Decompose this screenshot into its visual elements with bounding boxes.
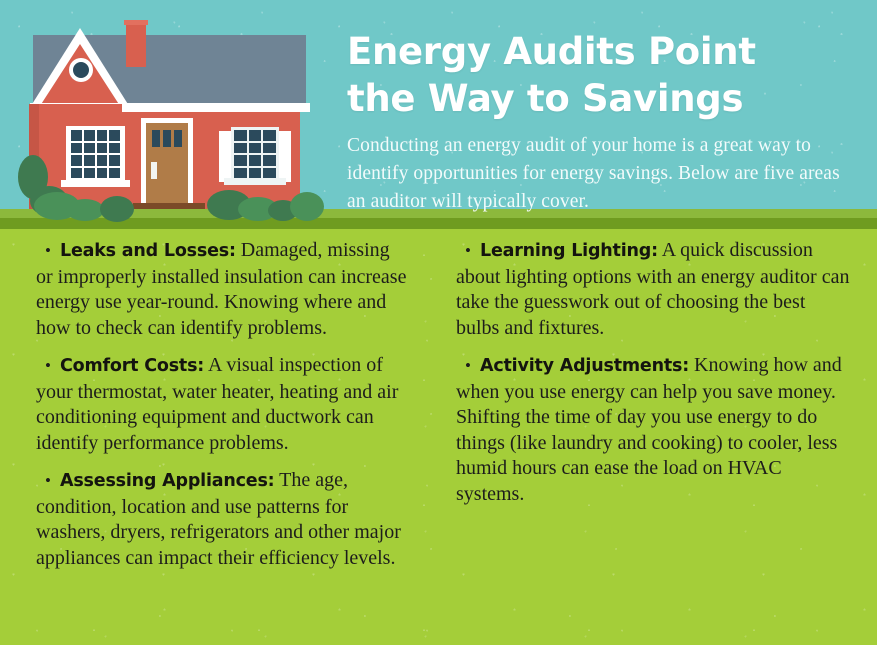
header-text-block: Energy Audits Point the Way to Savings C… [347, 28, 857, 216]
bush-group [0, 0, 340, 229]
bullet-icon: • [36, 353, 60, 379]
list-item-heading: Activity Adjustments: [480, 356, 689, 376]
list-item: •Learning Lighting: A quick discussion a… [456, 238, 853, 341]
energy-audit-infographic: Energy Audits Point the Way to Savings C… [0, 0, 877, 645]
bullet-icon: • [456, 353, 480, 379]
bush-icon [100, 196, 134, 222]
bush-icon [290, 192, 324, 221]
list-item: •Assessing Appliances: The age, conditio… [36, 468, 408, 571]
bullet-icon: • [36, 468, 60, 494]
list-item-heading: Leaks and Losses: [60, 241, 236, 261]
list-item-heading: Learning Lighting: [480, 241, 658, 261]
bullet-icon: • [36, 238, 60, 264]
list-item-heading: Comfort Costs: [60, 356, 204, 376]
list-item: •Leaks and Losses: Damaged, missing or i… [36, 238, 408, 341]
page-title-line-1: Energy Audits Point [347, 28, 857, 75]
list-item: •Activity Adjustments: Knowing how and w… [456, 353, 853, 507]
page-title-line-2: the Way to Savings [347, 75, 857, 122]
page-title: Energy Audits Point the Way to Savings [347, 28, 857, 122]
list-item-heading: Assessing Appliances: [60, 471, 274, 491]
list-item: •Comfort Costs: A visual inspection of y… [36, 353, 408, 456]
bush-icon [66, 199, 104, 221]
list-item-body: Knowing how and when you use energy can … [456, 354, 842, 505]
left-column: •Leaks and Losses: Damaged, missing or i… [0, 238, 432, 645]
bullet-icon: • [456, 238, 480, 264]
page-subtitle: Conducting an energy audit of your home … [347, 132, 857, 216]
content-columns: •Leaks and Losses: Damaged, missing or i… [0, 238, 877, 645]
right-column: •Learning Lighting: A quick discussion a… [432, 238, 877, 645]
